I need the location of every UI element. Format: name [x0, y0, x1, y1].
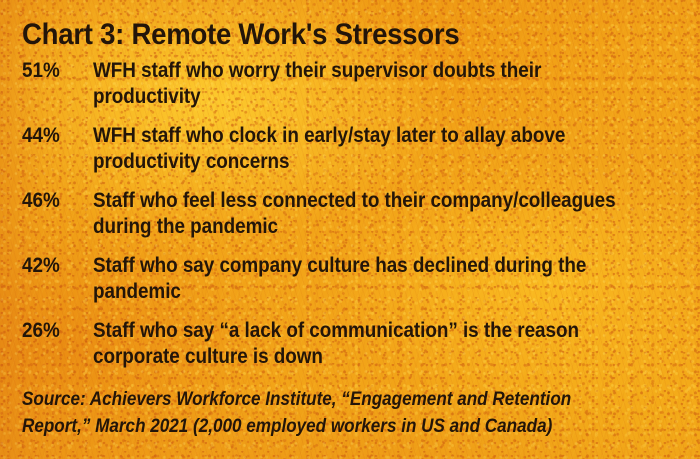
- statistics-list: 51% WFH staff who worry their supervisor…: [22, 58, 682, 370]
- list-item: 46% Staff who feel less connected to the…: [22, 188, 682, 240]
- stat-description: Staff who say company culture has declin…: [93, 253, 623, 305]
- stat-percent-value: 51%: [22, 58, 68, 84]
- stat-description: WFH staff who clock in early/stay later …: [93, 123, 623, 175]
- stat-percent-value: 46%: [22, 188, 68, 214]
- remote-work-stressors-chart-card: Chart 3: Remote Work's Stressors 51% WFH…: [0, 0, 700, 459]
- list-item: 51% WFH staff who worry their supervisor…: [22, 58, 682, 110]
- stat-description: Staff who feel less connected to their c…: [93, 188, 623, 240]
- stat-percent-value: 26%: [22, 318, 68, 344]
- stat-percent-value: 44%: [22, 123, 68, 149]
- source-attribution: Source: Achievers Workforce Institute, “…: [22, 386, 634, 440]
- stat-percent-value: 42%: [22, 253, 68, 279]
- page-title: Chart 3: Remote Work's Stressors: [22, 18, 459, 52]
- list-item: 42% Staff who say company culture has de…: [22, 253, 682, 305]
- stat-description: WFH staff who worry their supervisor dou…: [93, 58, 623, 110]
- list-item: 44% WFH staff who clock in early/stay la…: [22, 123, 682, 175]
- list-item: 26% Staff who say “a lack of communicati…: [22, 318, 682, 370]
- stat-description: Staff who say “a lack of communication” …: [93, 318, 623, 370]
